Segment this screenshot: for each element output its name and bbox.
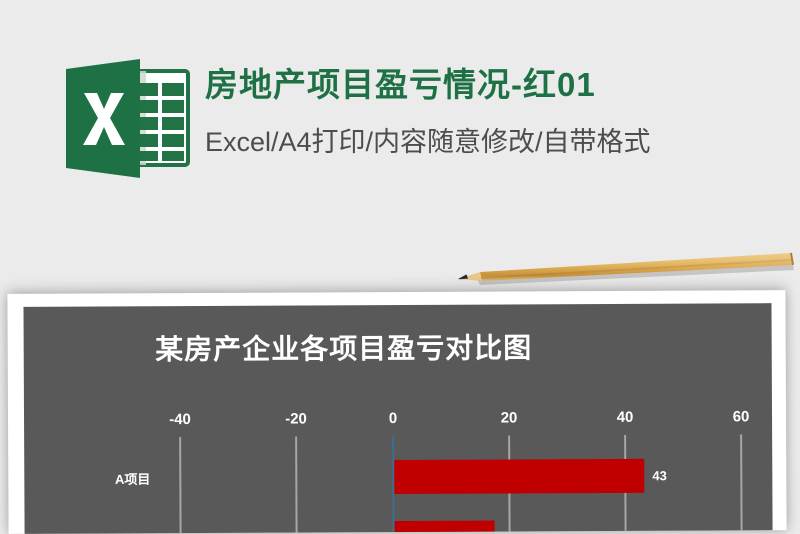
chart-card: 某房产企业各项目盈亏对比图 -40 -20 0 20 40 60 A项目 43 … (7, 290, 786, 534)
bar-series-1 (395, 521, 495, 534)
chart-plot-area: -40 -20 0 20 40 60 A项目 43 B项目 (24, 408, 773, 534)
chart-panel: 某房产企业各项目盈亏对比图 -40 -20 0 20 40 60 A项目 43 … (23, 303, 772, 534)
gridline (740, 434, 742, 530)
header-banner: 房地产项目盈亏情况-红01 Excel/A4打印/内容随意修改/自带格式 (0, 0, 800, 240)
page-title: 房地产项目盈亏情况-红01 (205, 62, 785, 108)
x-tick-label: 40 (617, 409, 634, 426)
x-tick-label: 60 (733, 408, 750, 425)
chart-title: 某房产企业各项目盈亏对比图 (24, 326, 664, 369)
page-subtitle: Excel/A4打印/内容随意修改/自带格式 (205, 120, 785, 164)
x-tick-label: -20 (285, 410, 307, 427)
header-text-block: 房地产项目盈亏情况-红01 Excel/A4打印/内容随意修改/自带格式 (205, 62, 785, 164)
gridline (179, 437, 181, 533)
category-label: A项目 (115, 469, 150, 488)
bar-series-0 (394, 459, 644, 494)
x-tick-label: 20 (501, 409, 518, 426)
bar-value-label: 43 (652, 468, 667, 483)
category-label: B项目 (115, 530, 150, 534)
pencil-decoration (452, 248, 796, 292)
x-tick-label: 0 (389, 410, 397, 427)
x-tick-label: -40 (169, 411, 191, 428)
gridline (295, 436, 297, 532)
excel-logo (48, 57, 196, 180)
